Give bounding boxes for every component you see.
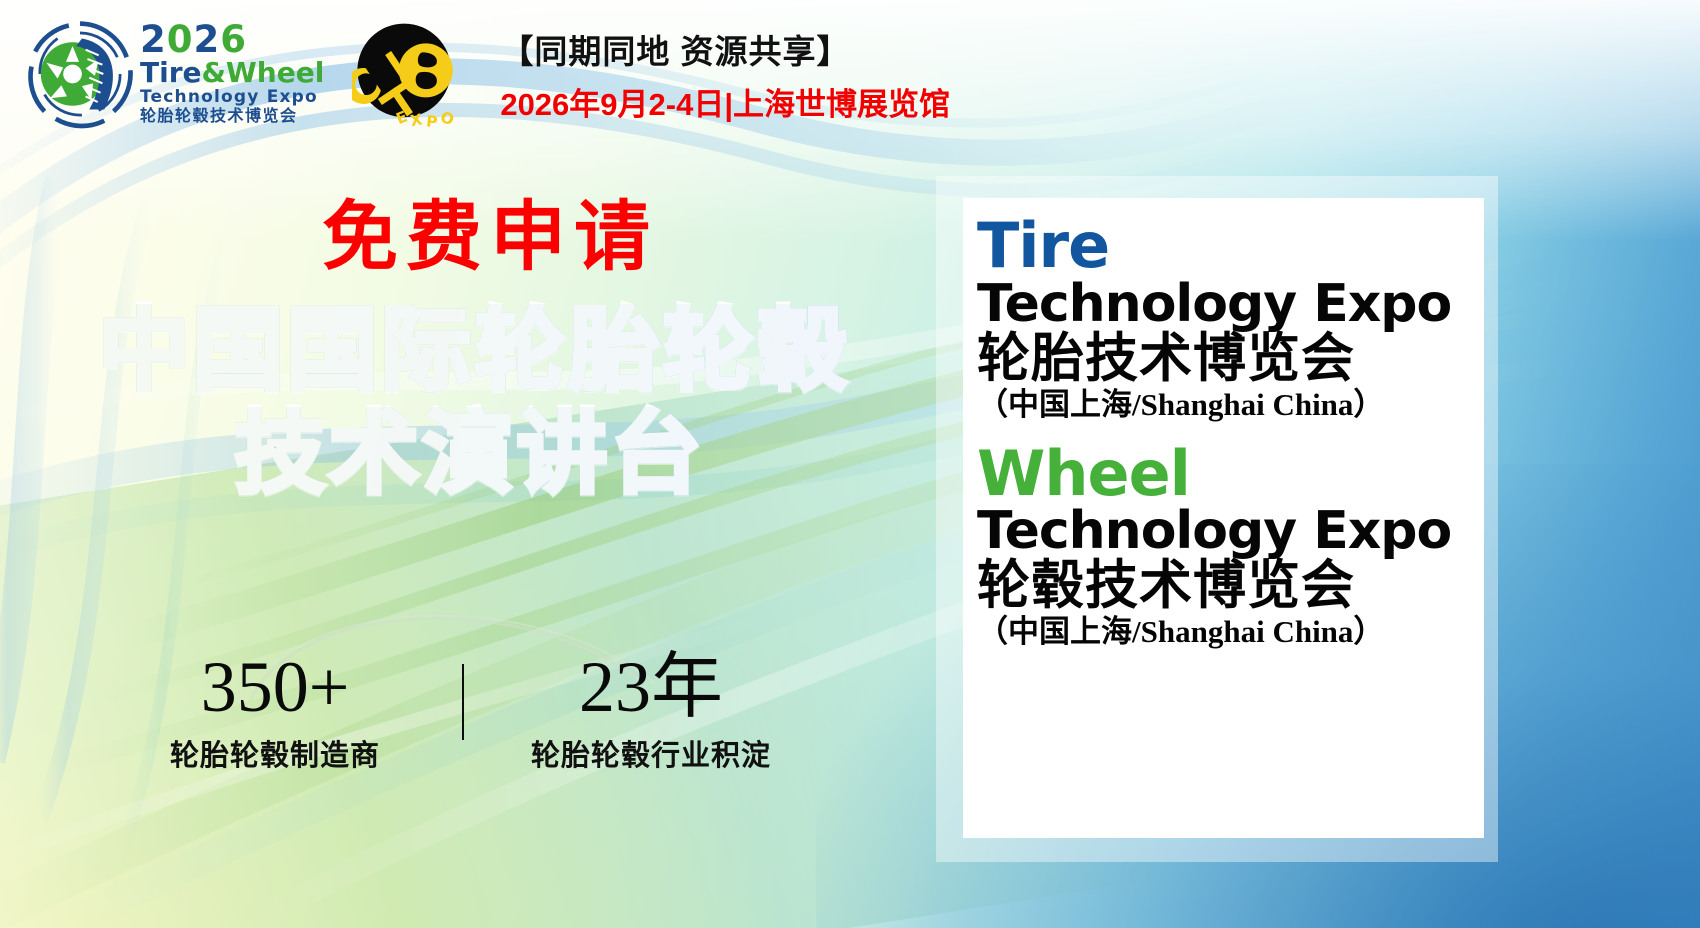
- main-content-left: 免费申请 中国国际轮胎轮毂 技术演讲台: [0, 200, 940, 503]
- stat-divider: [462, 664, 464, 740]
- stat-caption: 轮胎轮毂制造商: [110, 732, 440, 774]
- header-date-venue: 2026年9月2-4日|上海世博展览馆: [500, 79, 950, 124]
- logo-name-wheel: Wheel: [226, 56, 324, 89]
- panel-block-tire: Tire Technology Expo 轮胎技术博览会 （中国上海/Shang…: [977, 216, 1484, 422]
- stat-number: 23年: [486, 650, 816, 726]
- stat-caption: 轮胎轮毂行业积淀: [486, 732, 816, 774]
- header-text-block: 【同期同地 资源共享】 2026年9月2-4日|上海世博展览馆: [500, 25, 950, 124]
- stats-row: 350+ 轮胎轮毂制造商 23年 轮胎轮毂行业积淀: [110, 650, 816, 774]
- logo-subtitle-en: Technology Expo: [140, 89, 324, 106]
- panel-location-wheel: （中国上海/Shanghai China）: [977, 615, 1484, 649]
- logo-year: 2026: [140, 21, 324, 58]
- banner-header: 2026 Tire&Wheel Technology Expo 轮胎轮毂技术博览…: [24, 18, 950, 130]
- panel-block-wheel: Wheel Technology Expo 轮毂技术博览会 （中国上海/Shan…: [977, 444, 1484, 650]
- cti-expo-label: P: [426, 112, 439, 128]
- panel-cn-wheel: 轮毂技术博览会: [977, 559, 1484, 613]
- tire-wheel-logo-icon: [24, 18, 136, 130]
- panel-brand-tire: Tire: [977, 216, 1484, 276]
- main-title-line-1: 中国国际轮胎轮毂: [0, 304, 940, 399]
- logo-tire-wheel-expo[interactable]: 2026 Tire&Wheel Technology Expo 轮胎轮毂技术博览…: [24, 18, 324, 130]
- panel-tech-wheel: Technology Expo: [977, 505, 1484, 557]
- header-slogan: 【同期同地 资源共享】: [500, 25, 950, 73]
- stat-item: 23年 轮胎轮毂行业积淀: [486, 650, 816, 774]
- expo-banner: 2026 Tire&Wheel Technology Expo 轮胎轮毂技术博览…: [0, 0, 1700, 928]
- right-panel: Tire Technology Expo 轮胎技术博览会 （中国上海/Shang…: [963, 198, 1484, 838]
- panel-tech-tire: Technology Expo: [977, 278, 1484, 330]
- main-title: 中国国际轮胎轮毂 技术演讲台: [0, 304, 940, 503]
- logo-name: Tire&Wheel: [140, 59, 324, 87]
- stat-item: 350+ 轮胎轮毂制造商: [110, 650, 440, 774]
- main-title-line-2: 技术演讲台: [0, 407, 940, 502]
- logo-subtitle-cn: 轮胎轮毂技术博览会: [140, 109, 324, 125]
- stat-number: 350+: [110, 650, 440, 726]
- logo-name-tire: Tire: [140, 56, 202, 89]
- logo-name-amp: &: [202, 56, 226, 89]
- logo-wordmark: 2026 Tire&Wheel Technology Expo 轮胎轮毂技术博览…: [140, 21, 324, 127]
- panel-cn-tire: 轮胎技术博览会: [977, 332, 1484, 386]
- free-apply-headline: 免费申请: [40, 200, 940, 276]
- panel-brand-wheel: Wheel: [977, 444, 1484, 504]
- cti-expo-logo-icon[interactable]: E X P O: [352, 20, 460, 128]
- panel-location-tire: （中国上海/Shanghai China）: [977, 388, 1484, 422]
- cti-expo-label: O: [438, 108, 457, 128]
